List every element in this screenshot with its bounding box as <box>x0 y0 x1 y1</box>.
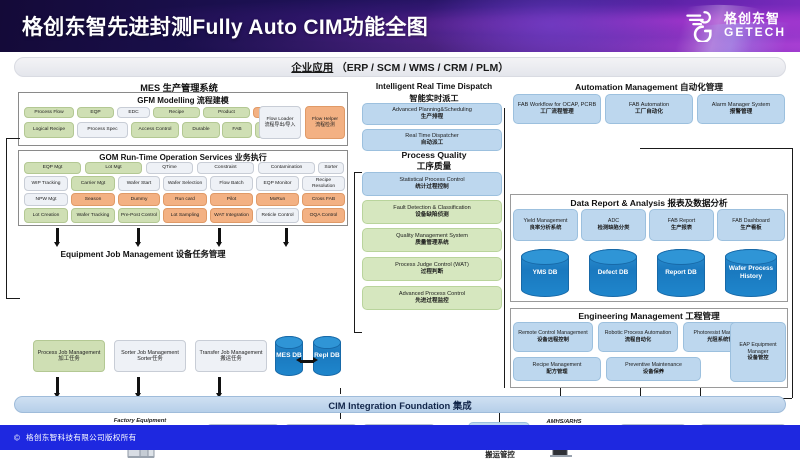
gom-row1-box-label-en-1: EQP Mgt <box>43 165 63 171</box>
automation-box-1[interactable]: FAB Workflow for OCAP, PCRB工厂流程管理 <box>513 94 601 124</box>
gom-row3-box-label-en-3: Dummy <box>131 197 148 203</box>
gom-row1-box-label-en-4: Constraint <box>214 165 236 171</box>
quality-box-label-en-5: Advanced Process Control <box>399 291 465 298</box>
engineering-box-6[interactable]: Preventive Maintenance设备保养 <box>606 357 701 381</box>
gom-row3-box-label-en-2: Season <box>85 197 102 203</box>
gfm-tall-box-label-cn-1: 流程导出/导入 <box>265 123 296 129</box>
automation-box-2[interactable]: FAB Automation工厂自动化 <box>605 94 693 124</box>
gom-row3-box-label-en-5: Pilot <box>227 197 237 203</box>
report-box-label-en-3: FAB Report <box>668 218 695 225</box>
engineering-box-1[interactable]: Remote Control Management设备远程控制 <box>513 322 593 352</box>
gom-row4-box-2[interactable]: Wafer Tracking <box>71 208 115 223</box>
report-box-3[interactable]: FAB Report生产报表 <box>649 209 714 241</box>
quality-box-3[interactable]: Quality Management System质量管理系统 <box>362 228 502 252</box>
gom-row2-box-label-en-6: EQP Monitor <box>264 181 292 187</box>
gom-row3-box-4[interactable]: Run card <box>163 193 207 206</box>
gom-row1-box-5[interactable]: Contamination <box>258 162 315 174</box>
cim-tools-drop <box>340 413 341 419</box>
gom-row3-box-label-en-4: Run card <box>175 197 195 203</box>
gom-row4-box-label-en-1: Lot Creation <box>33 213 60 219</box>
gfm-tall-box-label-cn-2: 流程检测 <box>315 123 335 129</box>
arrow-gom-db <box>283 242 289 247</box>
cim-title: CIM Integration Foundation 集成 <box>328 398 471 412</box>
gom-row2-box-4[interactable]: Wafer Selection <box>163 176 207 191</box>
logo-text-cn: 格创东智 <box>724 12 786 25</box>
quality-box-label-cn-1: 统计过程控制 <box>415 184 449 191</box>
gom-row4-box-label-en-3: Pre-Post Control <box>121 213 157 219</box>
gfm-row1-box-5[interactable]: Product <box>203 107 250 118</box>
transport-manager-label-cn: 搬运管控 <box>450 450 550 459</box>
db-link-line <box>300 360 314 363</box>
automation-box-label-cn-2: 工厂自动化 <box>635 109 663 116</box>
gom-row4-box-label-en-2: Wafer Tracking <box>77 213 110 219</box>
gom-row4-box-label-en-5: WAT Integration <box>214 213 249 219</box>
quality-box-label-en-2: Fault Detection & Classification <box>393 205 470 212</box>
dispatch-box-label-en-2: Real Time Dispatcher <box>405 133 458 140</box>
gom-row1-box-6[interactable]: Sorter <box>318 162 344 174</box>
report-box-label-cn-4: 生产看板 <box>740 225 761 232</box>
connector-gom-db <box>285 228 288 242</box>
gfm-row2-box-label-en-2: Process Spec <box>87 127 117 133</box>
getech-logo-icon <box>684 8 718 42</box>
gom-row4-box-7[interactable]: OQA Control <box>302 208 345 223</box>
gom-row2-box-1[interactable]: WIP Tracking <box>24 176 68 191</box>
mes-database-label-1: MES DB <box>276 352 302 360</box>
engineering-box-label-en-2: Robotic Process Automation <box>605 330 672 337</box>
gfm-tall-box-1[interactable]: Flow Loader流程导出/导入 <box>259 106 301 139</box>
gom-row1-box-label-en-3: QTime <box>162 165 177 171</box>
ejm-box-label-cn-3: 搬运任务 <box>220 356 242 362</box>
ejm-box-1[interactable]: Process Job Management加工任务 <box>33 340 105 372</box>
engineering-box-label-cn-4: 设备管控 <box>747 355 768 362</box>
gfm-row2-box-2[interactable]: Process Spec <box>77 122 128 138</box>
gfm-row1-box-3[interactable]: EDC <box>117 107 150 118</box>
quality-box-1[interactable]: Statistical Process Control统计过程控制 <box>362 172 502 196</box>
gom-row2-box-2[interactable]: Carrier Mgt <box>71 176 115 191</box>
report-database-label-2: Defect DB <box>598 269 629 277</box>
quality-box-label-cn-4: 过程判断 <box>421 269 443 276</box>
header-glow-decoration <box>420 0 680 52</box>
quality-box-2[interactable]: Fault Detection & Classification设备缺陷侦测 <box>362 200 502 224</box>
automation-box-label-en-1: FAB Workflow for OCAP, PCRB <box>518 102 596 109</box>
engineering-box-label-cn-1: 设备远程控制 <box>537 337 569 344</box>
page-header: 格创东智先进封测Fully Auto CIM功能全图 格创东智 GETECH <box>0 0 800 52</box>
quality-box-label-cn-5: 先进过程监控 <box>415 298 449 305</box>
dispatch-box-label-en-1: Advanced Planning&Scheduling <box>392 107 472 114</box>
gfm-row1-box-label-en-2: EQP <box>90 110 100 116</box>
report-database-cylinder-4[interactable]: Wafer Process History <box>725 249 777 297</box>
gom-row1-box-4[interactable]: Constraint <box>197 162 254 174</box>
engineering-box-4[interactable]: EAP Equipment Manager设备管控 <box>730 322 786 382</box>
gom-row4-box-label-en-7: OQA Control <box>310 213 338 219</box>
automation-box-3[interactable]: Alarm Manager System报警管理 <box>697 94 785 124</box>
automation-box-label-en-2: FAB Automation <box>629 102 669 109</box>
page-title: 格创东智先进封测Fully Auto CIM功能全图 <box>22 11 428 41</box>
gom-row1-box-label-en-6: Sorter <box>324 165 337 171</box>
right-bus-vertical <box>792 148 793 398</box>
engineering-box-label-cn-5: 配方管理 <box>546 369 567 376</box>
dispatch-title-en: Intelligent Real Time Dispatch <box>360 82 508 91</box>
gom-row4-box-5[interactable]: WAT Integration <box>210 208 253 223</box>
report-box-label-cn-3: 生产报表 <box>671 225 692 232</box>
gom-row3-box-6[interactable]: MxRun <box>256 193 299 206</box>
gom-row3-box-1[interactable]: NPW Mgt <box>24 193 68 206</box>
gom-row1-box-1[interactable]: EQP Mgt <box>24 162 81 174</box>
arrow-gom-ejm-1 <box>54 242 60 247</box>
gom-row1-box-3[interactable]: QTime <box>146 162 193 174</box>
arrow-gom-ejm-3 <box>216 242 222 247</box>
logo-text-en: GETECH <box>724 26 786 38</box>
gom-row1-box-label-en-2: Lot Mgt <box>105 165 121 171</box>
gom-row2-box-label-en-7: Recipe Resolution <box>304 178 343 190</box>
connector-ejm-cim-1 <box>56 377 59 393</box>
page-footer: © 格创东智科技有限公司版权所有 <box>0 425 800 450</box>
gom-row3-box-7[interactable]: Cross FAB <box>302 193 345 206</box>
gom-row3-box-label-en-7: Cross FAB <box>312 197 335 203</box>
connector-ejm-cim-3 <box>218 377 221 393</box>
dispatch-box-label-cn-2: 自动派工 <box>421 140 443 147</box>
diagram-canvas: 企业应用 （ERP / SCM / WMS / CRM / PLM） MES 生… <box>0 52 800 425</box>
gfm-tall-box-2[interactable]: Flow Helper流程检测 <box>305 106 345 139</box>
gom-row4-box-4[interactable]: Lot Sampling <box>163 208 207 223</box>
enterprise-application-bar: 企业应用 （ERP / SCM / WMS / CRM / PLM） <box>14 57 786 77</box>
cim-mcs-drop <box>499 413 500 422</box>
engineering-box-label-cn-6: 设备保养 <box>643 369 664 376</box>
ejm-box-3[interactable]: Transfer Job Management搬运任务 <box>195 340 267 372</box>
ejm-box-2[interactable]: Sorter Job ManagementSorter任务 <box>114 340 186 372</box>
quality-box-label-cn-2: 设备缺陷侦测 <box>415 212 449 219</box>
report-box-4[interactable]: FAB Dashboard生产看板 <box>717 209 785 241</box>
gom-row4-box-label-en-4: Lot Sampling <box>171 213 200 219</box>
engineering-box-label-cn-2: 流程自动化 <box>625 337 652 344</box>
mes-database-cylinder-1[interactable]: MES DB <box>275 336 303 376</box>
gfm-row2-box-5[interactable]: FAB <box>222 122 252 138</box>
left-bracket-top <box>6 138 20 139</box>
engineering-box-label-en-1: Remote Control Management <box>518 330 587 337</box>
dispatch-box-2[interactable]: Real Time Dispatcher自动派工 <box>362 129 502 151</box>
ejm-box-label-cn-1: 加工任务 <box>58 356 80 362</box>
dispatch-box-label-cn-1: 生产排程 <box>421 114 443 121</box>
ejm-title: Equipment Job Management 设备任务管理 <box>18 248 268 260</box>
gom-row2-box-5[interactable]: Flow Batch <box>210 176 253 191</box>
report-box-label-cn-1: 良率分析系统 <box>530 225 562 232</box>
quality-box-label-cn-3: 质量管理系统 <box>415 240 449 247</box>
gom-row4-box-3[interactable]: Pre-Post Control <box>118 208 160 223</box>
middle-left-bus-top <box>354 172 362 173</box>
gom-row3-box-2[interactable]: Season <box>71 193 115 206</box>
gom-row1-box-label-en-5: Contamination <box>271 165 303 171</box>
engineering-box-2[interactable]: Robotic Process Automation流程自动化 <box>598 322 678 352</box>
gom-row3-box-5[interactable]: Pilot <box>210 193 253 206</box>
dispatch-box-1[interactable]: Advanced Planning&Scheduling生产排程 <box>362 103 502 125</box>
middle-bus-drop <box>340 388 341 394</box>
gfm-title: GFM Modelling 流程建模 <box>18 95 348 106</box>
report-box-label-en-2: ADC <box>608 218 619 225</box>
report-title: Data Report & Analysis 报表及数据分析 <box>510 197 788 209</box>
engineering-box-label-en-4: EAP Equipment Manager <box>733 342 783 355</box>
quality-title-en: Process Quality <box>360 150 508 160</box>
gfm-row2-box-3[interactable]: Access Control <box>131 122 179 138</box>
quality-box-label-en-3: Quality Management System <box>396 233 468 240</box>
gom-row2-box-label-en-5: Flow Batch <box>219 181 243 187</box>
gom-row2-box-3[interactable]: Wafer Start <box>118 176 160 191</box>
left-bracket-vertical <box>6 138 7 298</box>
report-box-2[interactable]: ADC检测缺陷分类 <box>581 209 646 241</box>
quality-box-label-en-1: Statistical Process Control <box>399 177 464 184</box>
report-database-cylinder-3[interactable]: Report DB <box>657 249 705 297</box>
connector-gom-ejm-2 <box>137 228 140 242</box>
gfm-row1-box-2[interactable]: EQP <box>77 107 114 118</box>
connector-gom-ejm-3 <box>218 228 221 242</box>
middle-bus-vertical <box>504 108 505 388</box>
gom-row4-box-label-en-6: Reticle Control <box>261 213 293 219</box>
ejm-box-label-cn-2: Sorter任务 <box>137 356 162 362</box>
gfm-row2-box-label-en-5: FAB <box>232 127 241 133</box>
connector-ejm-cim-2 <box>137 377 140 393</box>
mes-database-cylinder-2[interactable]: Repl DB <box>313 336 341 376</box>
quality-box-5[interactable]: Advanced Process Control先进过程监控 <box>362 286 502 310</box>
gfm-row1-box-label-en-3: EDC <box>128 110 138 116</box>
middle-left-bus-vertical <box>354 172 355 332</box>
copyright-icon: © <box>14 433 20 442</box>
footer-copyright-text: 格创东智科技有限公司版权所有 <box>26 432 137 443</box>
gfm-row1-box-4[interactable]: Recipe <box>153 107 200 118</box>
report-box-label-en-1: Yield Management <box>524 218 568 225</box>
gfm-row2-box-label-en-3: Access Control <box>139 127 172 133</box>
gfm-row2-box-4[interactable]: Durable <box>182 122 220 138</box>
gom-row2-box-label-en-3: Wafer Start <box>127 181 152 187</box>
enterprise-label-cn: 企业应用 <box>291 62 333 74</box>
gom-row2-box-label-en-4: Wafer Selection <box>168 181 202 187</box>
quality-box-label-en-4: Process Judge Control (WAT) <box>395 262 469 269</box>
left-bracket-bottom <box>6 298 20 299</box>
automation-title: Automation Management 自动化管理 <box>508 81 790 93</box>
gom-row3-box-label-en-1: NPW Mgt <box>36 197 57 203</box>
gfm-row2-box-label-en-1: Logical Recipe <box>33 127 65 133</box>
gfm-row1-box-label-en-5: Product <box>218 110 235 116</box>
gom-row1-box-2[interactable]: Lot Mgt <box>85 162 142 174</box>
quality-box-4[interactable]: Process Judge Control (WAT)过程判断 <box>362 257 502 281</box>
gfm-row1-box-1[interactable]: Process Flow <box>24 107 74 118</box>
gfm-row2-box-label-en-4: Durable <box>192 127 209 133</box>
arrow-gom-ejm-2 <box>135 242 141 247</box>
gom-row2-box-6[interactable]: EQP Monitor <box>256 176 299 191</box>
automation-box-label-cn-1: 工厂流程管理 <box>540 109 574 116</box>
report-box-label-cn-2: 检测缺陷分类 <box>598 225 630 232</box>
gom-row2-box-label-en-1: WIP Tracking <box>32 181 61 187</box>
brand-logo: 格创东智 GETECH <box>684 8 786 42</box>
gom-row3-box-label-en-6: MxRun <box>270 197 286 203</box>
engineering-box-label-en-6: Preventive Maintenance <box>625 362 682 369</box>
report-database-cylinder-1[interactable]: YMS DB <box>521 249 569 297</box>
gom-row4-box-1[interactable]: Lot Creation <box>24 208 68 223</box>
report-database-label-4: Wafer Process History <box>726 265 776 280</box>
report-database-label-3: Report DB <box>665 269 697 277</box>
gom-row4-box-6[interactable]: Reticle Control <box>256 208 299 223</box>
connector-gom-ejm-1 <box>56 228 59 242</box>
report-box-label-en-4: FAB Dashboard <box>732 218 769 225</box>
enterprise-label-en: （ERP / SCM / WMS / CRM / PLM） <box>336 62 508 74</box>
middle-left-bus-bottom <box>354 332 362 333</box>
report-database-label-1: YMS DB <box>533 269 558 277</box>
gfm-row1-box-label-en-1: Process Flow <box>34 110 63 116</box>
gfm-row1-box-label-en-4: Recipe <box>169 110 184 116</box>
cim-integration-bar: CIM Integration Foundation 集成 <box>14 396 786 413</box>
automation-box-label-en-3: Alarm Manager System <box>712 102 770 109</box>
right-bus-top <box>640 148 792 149</box>
gfm-row2-box-1[interactable]: Logical Recipe <box>24 122 74 138</box>
automation-box-label-cn-3: 报警管理 <box>730 109 752 116</box>
gom-row2-box-label-en-2: Carrier Mgt <box>81 181 105 187</box>
engineering-title: Engineering Management 工程管理 <box>510 310 788 322</box>
engineering-box-label-en-5: Recipe Management <box>533 362 582 369</box>
engineering-box-5[interactable]: Recipe Management配方管理 <box>513 357 601 381</box>
quality-title-cn: 工序质量 <box>360 160 508 172</box>
gom-row2-box-7[interactable]: Recipe Resolution <box>302 176 345 191</box>
report-box-1[interactable]: Yield Management良率分析系统 <box>513 209 578 241</box>
gom-row3-box-3[interactable]: Dummy <box>118 193 160 206</box>
mes-database-label-2: Repl DB <box>314 352 340 360</box>
report-database-cylinder-2[interactable]: Defect DB <box>589 249 637 297</box>
